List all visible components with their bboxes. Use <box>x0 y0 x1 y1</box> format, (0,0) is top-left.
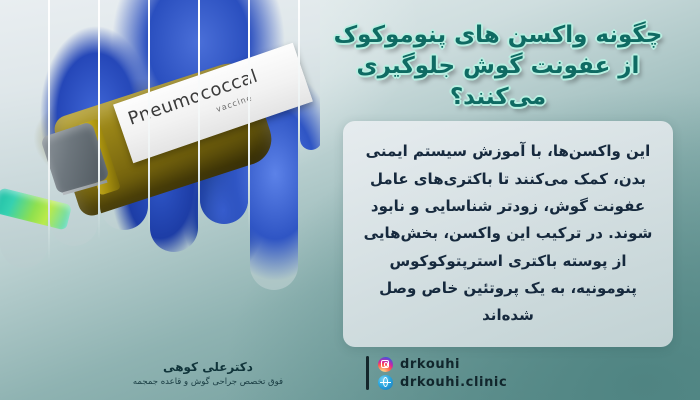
vial-cap <box>40 121 48 195</box>
photo-fragment: Pneumococcal vaccine <box>50 0 98 246</box>
photo-fragment: Pneumococcal vaccine <box>250 0 298 290</box>
stripe-seam <box>98 0 100 240</box>
stripe-seam <box>48 0 50 262</box>
photo-stripe: Pneumococcal vaccine <box>200 0 248 224</box>
vial-label: Pneumococcal vaccine <box>300 43 313 150</box>
instagram-icon <box>378 357 393 372</box>
photo-stripe: Pneumococcal vaccine <box>150 0 198 252</box>
headline-line-1: چگونه واکسن های پنوموکوک <box>312 20 684 51</box>
social-link-instagram[interactable]: drkouhi <box>378 355 507 373</box>
social-links: drkouhi drkouhi.clinic <box>378 355 507 391</box>
body-paragraph: این واکسن‌ها، با آموزش سیستم ایمنی بدن، … <box>343 138 673 329</box>
page-title: چگونه واکسن های پنوموکوک از عفونت گوش جل… <box>312 20 684 113</box>
headline-line-2: از عفونت گوش جلوگیری می‌کنند؟ <box>312 51 684 113</box>
poster-canvas: Pneumococcal vaccine Pneumococcal vaccin… <box>0 0 700 400</box>
photo-stripe: Pneumococcal vaccine <box>50 0 98 246</box>
stripe-seam <box>248 0 250 232</box>
body-text-panel: این واکسن‌ها، با آموزش سیستم ایمنی بدن، … <box>343 121 673 347</box>
footer: دکترعلی کوهی فوق تخصص جراحی گوش و قاعده … <box>0 344 700 400</box>
footer-divider <box>366 356 369 390</box>
vial-label-sub: vaccine <box>250 93 253 114</box>
photo-stripe: Pneumococcal vaccine <box>250 0 298 290</box>
photo-fragment: Pneumococcal vaccine <box>0 0 48 268</box>
instagram-handle: drkouhi <box>400 357 460 372</box>
photo-fragment: Pneumococcal vaccine <box>100 0 148 230</box>
photo-stripe: Pneumococcal vaccine <box>100 0 148 230</box>
stripe-seam <box>298 0 300 150</box>
photo-fragment: Pneumococcal vaccine <box>150 0 198 252</box>
social-link-website[interactable]: drkouhi.clinic <box>378 373 507 391</box>
stripe-seam <box>198 0 200 228</box>
doctor-credit: دکترعلی کوهی فوق تخصص جراحی گوش و قاعده … <box>108 358 308 390</box>
photo-fragment: Pneumococcal vaccine <box>200 0 248 224</box>
syringe <box>50 187 72 230</box>
photo-stripe: Pneumococcal vaccine <box>0 0 48 268</box>
stripe-seam <box>148 0 150 232</box>
website-handle: drkouhi.clinic <box>400 375 507 390</box>
syringe <box>0 187 48 230</box>
globe-icon <box>378 375 393 390</box>
doctor-name: دکترعلی کوهی <box>108 358 308 376</box>
vaccine-photo: Pneumococcal vaccine Pneumococcal vaccin… <box>0 0 320 300</box>
doctor-role: فوق تخصص جراحی گوش و قاعده جمجمه <box>108 376 308 390</box>
